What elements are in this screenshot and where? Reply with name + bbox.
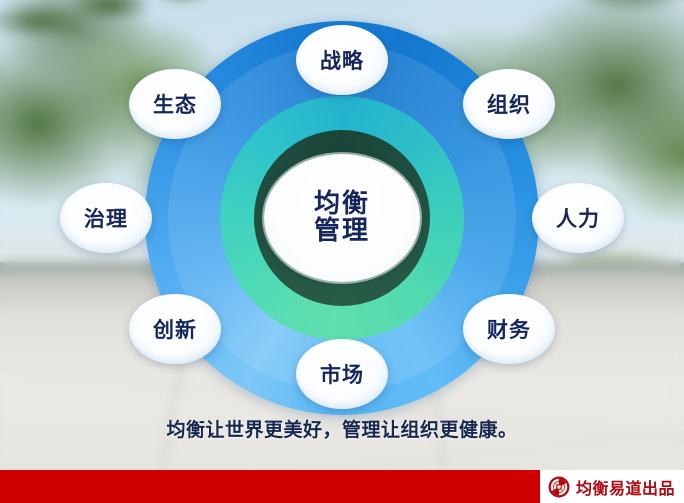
bubble-label: 战略: [320, 45, 364, 75]
bubble-market[interactable]: 市场: [296, 339, 388, 409]
caption-text: 均衡让世界更美好，管理让组织更健康。: [0, 415, 684, 442]
bubble-governance[interactable]: 治理: [60, 183, 152, 253]
brand-label: 均衡易道出品: [576, 475, 675, 499]
circular-seal-logo-icon: [548, 476, 570, 498]
bubble-label: 组织: [487, 89, 531, 119]
center-line-2: 管理: [314, 218, 370, 245]
bubble-label: 人力: [556, 203, 600, 233]
center-line-1: 均衡: [314, 191, 370, 218]
bubble-label: 治理: [84, 203, 128, 233]
bubble-finance[interactable]: 财务: [463, 294, 555, 364]
bubble-ecosystem[interactable]: 生态: [129, 69, 221, 139]
bubble-organization[interactable]: 组织: [463, 69, 555, 139]
center-hub-text: 均衡 管理: [314, 191, 370, 246]
bubble-label: 创新: [153, 314, 197, 344]
center-hub[interactable]: 均衡 管理: [264, 154, 420, 282]
bubble-label: 财务: [487, 314, 531, 344]
bubble-human-resources[interactable]: 人力: [532, 183, 624, 253]
slide-canvas: 均衡 管理 战略组织人力财务市场创新治理生态 均衡让世界更美好，管理让组织更健康…: [0, 0, 684, 503]
bubble-innovation[interactable]: 创新: [129, 294, 221, 364]
brand-panel: 均衡易道出品: [540, 470, 684, 503]
bubble-label: 市场: [320, 359, 364, 389]
bubble-label: 生态: [153, 89, 197, 119]
bubble-strategy[interactable]: 战略: [296, 25, 388, 95]
